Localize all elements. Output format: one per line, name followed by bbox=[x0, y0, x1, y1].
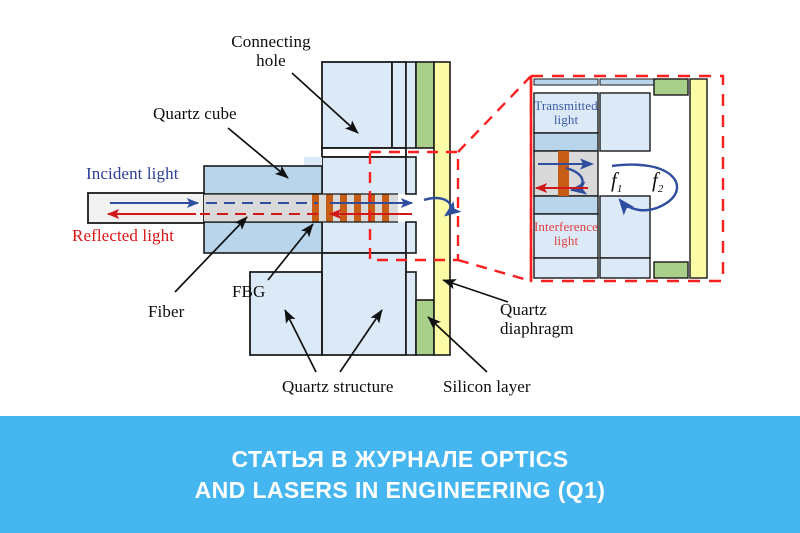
label-incident-light: Incident light bbox=[86, 164, 179, 183]
zoom-connector-bottom bbox=[458, 260, 531, 281]
zoom-connector-top bbox=[458, 76, 531, 152]
banner-line-2: and Lasers in Engineering (Q1) bbox=[195, 475, 606, 505]
inset-cube-upper bbox=[534, 133, 598, 151]
banner-text: Статья в журнале Optics and Lasers in En… bbox=[195, 444, 606, 505]
label-fiber: Fiber bbox=[148, 302, 184, 321]
label-quartz-cube: Quartz cube bbox=[153, 104, 237, 123]
inset-silicon-top bbox=[654, 79, 688, 95]
label-quartz-diaphragm: Quartz diaphragm bbox=[500, 300, 574, 338]
leader-quartz-diaphragm bbox=[443, 280, 508, 302]
caption-banner: Статья в журнале Optics and Lasers in En… bbox=[0, 416, 800, 533]
silicon-layer-bottom bbox=[416, 300, 434, 355]
inset-cube-lower bbox=[534, 196, 598, 214]
label-fbg: FBG bbox=[232, 282, 265, 301]
label-transmitted-light: Transmitted light bbox=[534, 99, 598, 128]
quartz-wall-lower bbox=[406, 272, 416, 355]
diagram-svg bbox=[0, 0, 800, 410]
quartz-wall-mid-bot bbox=[406, 222, 416, 253]
f2-subscript: 2 bbox=[658, 183, 664, 195]
quartz-wall-upper bbox=[406, 62, 416, 148]
f1-subscript: 1 bbox=[617, 183, 623, 195]
banner-line-1: Статья в журнале Optics bbox=[195, 444, 606, 474]
quartz-block-top bbox=[322, 62, 392, 148]
inset-diaphragm bbox=[690, 79, 707, 278]
quartz-wall-mid-top bbox=[406, 157, 416, 194]
inset-wall-bottom bbox=[600, 258, 650, 278]
screenshot-root: Connecting hole Quartz cube Incident lig… bbox=[0, 0, 800, 533]
quartz-wall-top bbox=[392, 62, 406, 148]
label-reflected-light: Reflected light bbox=[72, 226, 174, 245]
cavity-gap bbox=[398, 194, 420, 222]
label-connecting-hole: Connecting hole bbox=[206, 32, 336, 70]
sensor-diagram: Connecting hole Quartz cube Incident lig… bbox=[0, 0, 800, 410]
quartz-block-lower bbox=[322, 253, 406, 355]
label-quartz-structure: Quartz structure bbox=[282, 377, 394, 396]
quartz-cube-lower bbox=[204, 222, 322, 253]
quartz-step-upper bbox=[304, 157, 322, 166]
main-structure bbox=[88, 62, 450, 355]
quartz-diaphragm bbox=[434, 62, 450, 355]
label-silicon-layer: Silicon layer bbox=[443, 377, 531, 396]
inset-strip-top-left bbox=[534, 79, 598, 85]
inset-block-bottom-left bbox=[534, 258, 598, 278]
label-interference-light: Interference light bbox=[532, 220, 600, 249]
label-f2: f2 bbox=[652, 168, 663, 195]
quartz-cube-upper bbox=[204, 166, 322, 194]
inset-silicon-bottom bbox=[654, 262, 688, 278]
inset-strip-top-right bbox=[600, 79, 656, 85]
silicon-layer-top bbox=[416, 62, 434, 148]
fiber-tube bbox=[88, 193, 204, 223]
fiber-core-incube bbox=[204, 194, 322, 222]
inset-fbg-bar bbox=[558, 151, 569, 196]
inset-wall-upper bbox=[600, 93, 650, 151]
label-f1: f1 bbox=[611, 168, 622, 195]
